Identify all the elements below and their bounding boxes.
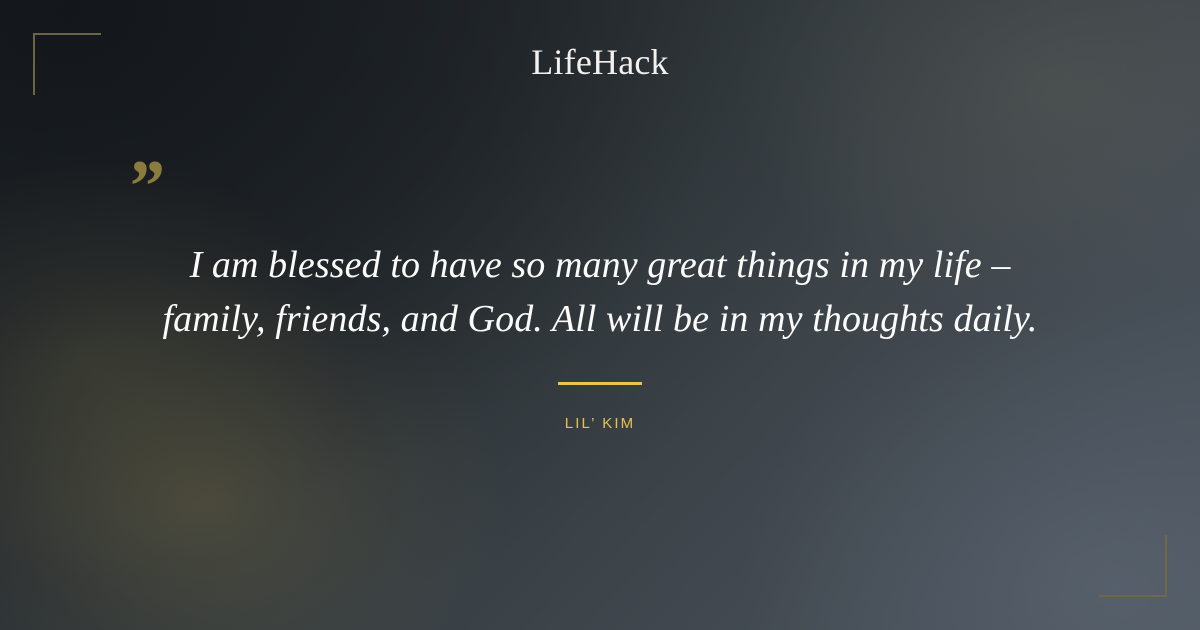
- quotation-mark-icon: ”: [126, 150, 163, 224]
- attribution-divider: [558, 382, 642, 385]
- quote-block: I am blessed to have so many great thing…: [60, 238, 1140, 346]
- quote-line-2: family, friends, and God. All will be in…: [60, 292, 1140, 346]
- quote-line-1: I am blessed to have so many great thing…: [60, 238, 1140, 292]
- quote-author: LIL’ KIM: [0, 414, 1200, 434]
- quote-card: LifeHack ” I am blessed to have so many …: [0, 0, 1200, 630]
- corner-bracket-bottom-right-icon: [1099, 535, 1167, 597]
- brand-logo: LifeHack: [0, 40, 1200, 84]
